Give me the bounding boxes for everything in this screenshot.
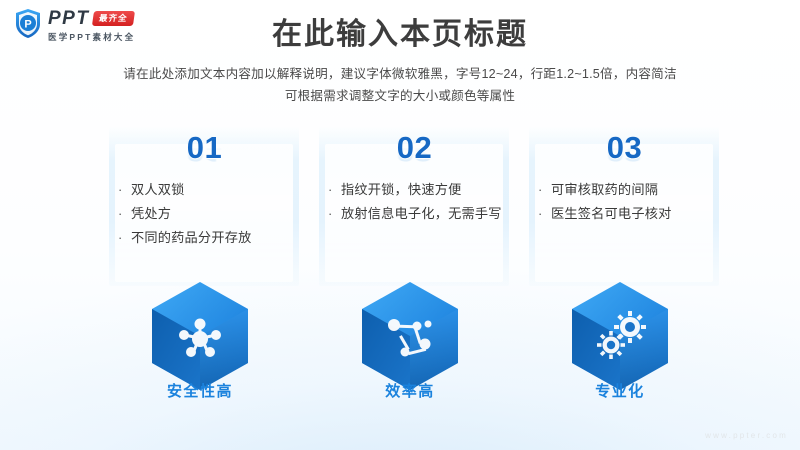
- icon-block-1[interactable]: 安全性高: [130, 280, 270, 410]
- content-column-2[interactable]: 02 02 ·指纹开锁，快速方便 ·放射信息电子化，无需手写: [307, 126, 522, 286]
- bullet-list: ·双人双锁 ·凭处方 ·不同的药品分开存放: [117, 180, 297, 252]
- bullet-marker: ·: [328, 204, 333, 225]
- column-number: 01: [97, 132, 312, 163]
- bullet-marker: ·: [118, 204, 123, 225]
- bullet-marker: ·: [118, 228, 123, 249]
- bullet-list: ·指纹开锁，快速方便 ·放射信息电子化，无需手写: [327, 180, 507, 228]
- list-item-label: 可审核取药的间隔: [551, 182, 658, 197]
- gears-icon: [568, 280, 672, 392]
- icon-block-2[interactable]: 效率高: [340, 280, 480, 410]
- subtitle-line-1: 请在此处添加文本内容加以解释说明，建议字体微软雅黑，字号12~24，行距1.2~…: [0, 64, 800, 86]
- share-nodes-icon: [358, 280, 462, 392]
- icon-label: 安全性高: [130, 380, 270, 401]
- content-column-1[interactable]: 01 01 ·双人双锁 ·凭处方 ·不同的药品分开存放: [97, 126, 312, 286]
- list-item: ·医生签名可电子核对: [537, 204, 717, 225]
- page-title: 在此输入本页标题: [0, 16, 800, 54]
- page-subtitle: 请在此处添加文本内容加以解释说明，建议字体微软雅黑，字号12~24，行距1.2~…: [0, 64, 800, 107]
- list-item: ·可审核取药的间隔: [537, 180, 717, 201]
- content-column-3[interactable]: 03 03 ·可审核取药的间隔 ·医生签名可电子核对: [517, 126, 732, 286]
- icon-label: 效率高: [340, 380, 480, 401]
- list-item-label: 放射信息电子化，无需手写: [341, 206, 502, 221]
- content-columns: 01 01 ·双人双锁 ·凭处方 ·不同的药品分开存放 02 02 ·指纹开锁，…: [0, 126, 800, 286]
- bullet-marker: ·: [538, 180, 543, 201]
- icon-row: 安全性高: [0, 280, 800, 410]
- icon-block-3[interactable]: 专业化: [550, 280, 690, 410]
- list-item: ·放射信息电子化，无需手写: [327, 204, 507, 225]
- bullet-list: ·可审核取药的间隔 ·医生签名可电子核对: [537, 180, 717, 228]
- list-item: ·不同的药品分开存放: [117, 228, 297, 249]
- subtitle-line-2: 可根据需求调整文字的大小或颜色等属性: [0, 86, 800, 108]
- list-item: ·指纹开锁，快速方便: [327, 180, 507, 201]
- list-item-label: 医生签名可电子核对: [551, 206, 672, 221]
- bullet-marker: ·: [538, 204, 543, 225]
- slide: P PPT 最齐全 医学PPT素材大全 在此输入本页标题 请在此处添加文本内容加…: [0, 0, 800, 450]
- list-item: ·双人双锁: [117, 180, 297, 201]
- column-number: 03: [517, 132, 732, 163]
- list-item: ·凭处方: [117, 204, 297, 225]
- list-item-label: 指纹开锁，快速方便: [341, 182, 462, 197]
- footer-watermark: www.ppter.com: [705, 431, 788, 440]
- bullet-marker: ·: [118, 180, 123, 201]
- icon-label: 专业化: [550, 380, 690, 401]
- column-number: 02: [307, 132, 522, 163]
- list-item-label: 双人双锁: [131, 182, 185, 197]
- bullet-marker: ·: [328, 180, 333, 201]
- list-item-label: 不同的药品分开存放: [131, 230, 252, 245]
- molecule-icon: [148, 280, 252, 392]
- list-item-label: 凭处方: [131, 206, 171, 221]
